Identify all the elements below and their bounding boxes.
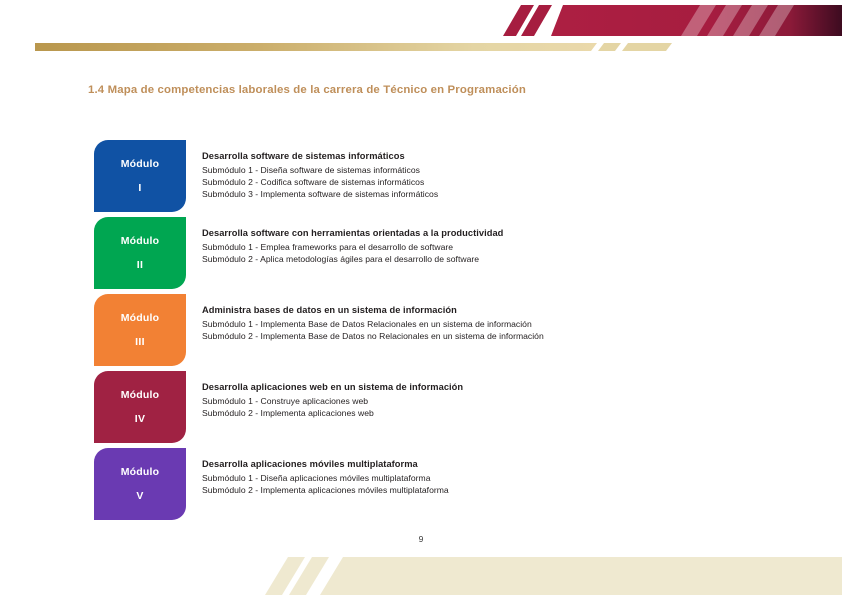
- module-text-block: Desarrolla software de sistemas informát…: [202, 150, 802, 200]
- submodule-item: Submódulo 2 - Aplica metodologías ágiles…: [202, 253, 802, 265]
- page-title: 1.4 Mapa de competencias laborales de la…: [88, 84, 526, 96]
- submodule-item: Submódulo 1 - Diseña software de sistema…: [202, 164, 802, 176]
- module-text-block: Desarrolla aplicaciones móviles multipla…: [202, 458, 802, 496]
- module-badge-numeral: IV: [135, 414, 146, 425]
- module-row: Módulo I Desarrolla software de sistemas…: [0, 140, 842, 217]
- module-heading: Administra bases de datos en un sistema …: [202, 304, 802, 317]
- module-badge-numeral: I: [138, 183, 141, 194]
- module-heading: Desarrolla aplicaciones móviles multipla…: [202, 458, 802, 471]
- module-heading: Desarrolla aplicaciones web en un sistem…: [202, 381, 802, 394]
- submodule-item: Submódulo 2 - Implementa aplicaciones we…: [202, 407, 802, 419]
- submodule-item: Submódulo 1 - Emplea frameworks para el …: [202, 241, 802, 253]
- module-badge-4: Módulo IV: [94, 371, 186, 443]
- submodule-item: Submódulo 1 - Diseña aplicaciones móvile…: [202, 472, 802, 484]
- module-badge-5: Módulo V: [94, 448, 186, 520]
- module-row: Módulo II Desarrolla software con herram…: [0, 217, 842, 294]
- module-badge-label: Módulo: [121, 236, 160, 247]
- module-badge-1: Módulo I: [94, 140, 186, 212]
- page-number: 9: [0, 534, 842, 544]
- module-heading: Desarrolla software de sistemas informát…: [202, 150, 802, 163]
- module-text-block: Desarrolla software con herramientas ori…: [202, 227, 802, 265]
- module-row: Módulo III Administra bases de datos en …: [0, 294, 842, 371]
- module-badge-3: Módulo III: [94, 294, 186, 366]
- module-badge-label: Módulo: [121, 313, 160, 324]
- module-badge-numeral: III: [135, 337, 145, 348]
- module-text-block: Desarrolla aplicaciones web en un sistem…: [202, 381, 802, 419]
- submodule-item: Submódulo 1 - Implementa Base de Datos R…: [202, 318, 802, 330]
- module-badge-label: Módulo: [121, 390, 160, 401]
- module-badge-numeral: V: [136, 491, 143, 502]
- cream-diagonal-band: [265, 557, 842, 595]
- module-list: Módulo I Desarrolla software de sistemas…: [0, 140, 842, 525]
- module-badge-numeral: II: [137, 260, 143, 271]
- submodule-item: Submódulo 2 - Codifica software de siste…: [202, 176, 802, 188]
- module-badge-2: Módulo II: [94, 217, 186, 289]
- module-text-block: Administra bases de datos en un sistema …: [202, 304, 802, 342]
- footer-decoration: [0, 550, 842, 595]
- module-heading: Desarrolla software con herramientas ori…: [202, 227, 802, 240]
- submodule-item: Submódulo 2 - Implementa Base de Datos n…: [202, 330, 802, 342]
- module-row: Módulo IV Desarrolla aplicaciones web en…: [0, 371, 842, 448]
- submodule-item: Submódulo 1 - Construye aplicaciones web: [202, 395, 802, 407]
- crimson-slash-marks: [503, 5, 552, 36]
- module-row: Módulo V Desarrolla aplicaciones móviles…: [0, 448, 842, 525]
- header-decoration: [0, 0, 842, 60]
- submodule-item: Submódulo 2 - Implementa aplicaciones mó…: [202, 484, 802, 496]
- module-badge-label: Módulo: [121, 159, 160, 170]
- submodule-item: Submódulo 3 - Implementa software de sis…: [202, 188, 802, 200]
- crimson-diagonal-band: [551, 5, 842, 36]
- gold-gradient-bar: [35, 43, 672, 51]
- module-badge-label: Módulo: [121, 467, 160, 478]
